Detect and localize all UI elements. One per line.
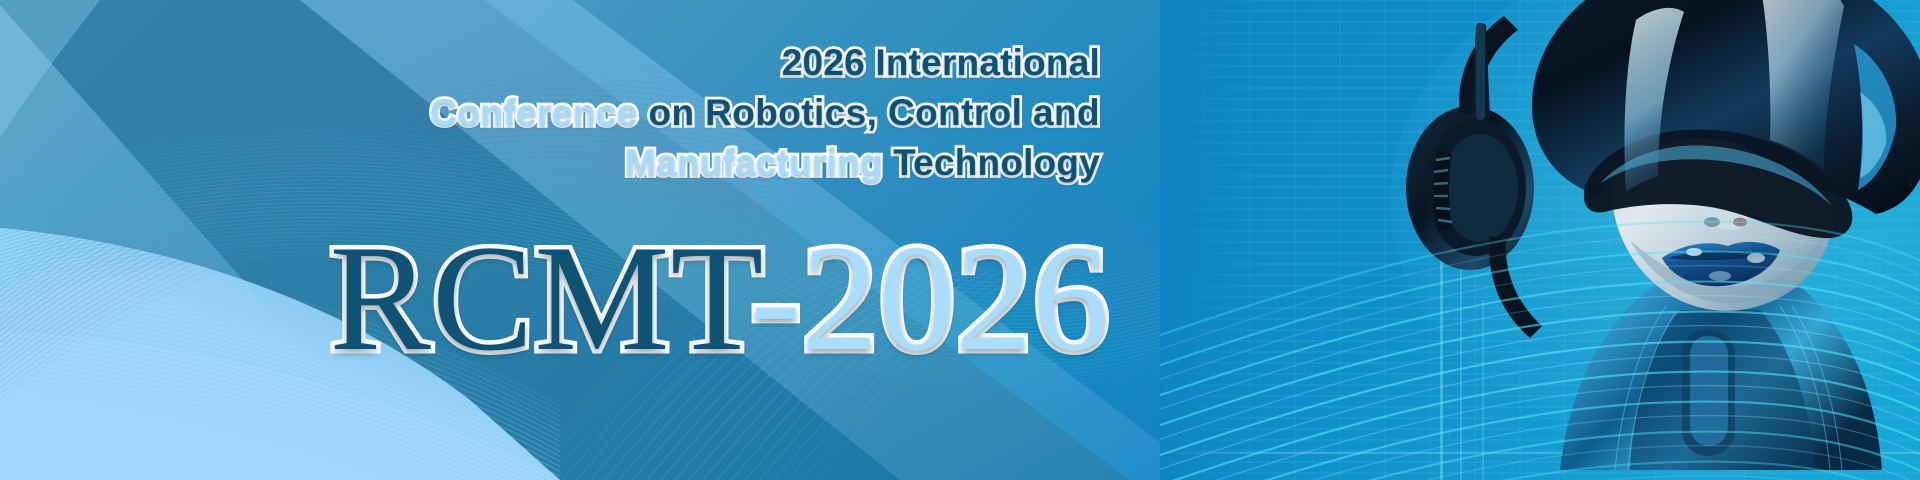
cyborg-robot-graphic (1160, 0, 1920, 480)
conference-banner: 2026 International Conference on Robotic… (0, 0, 1920, 480)
